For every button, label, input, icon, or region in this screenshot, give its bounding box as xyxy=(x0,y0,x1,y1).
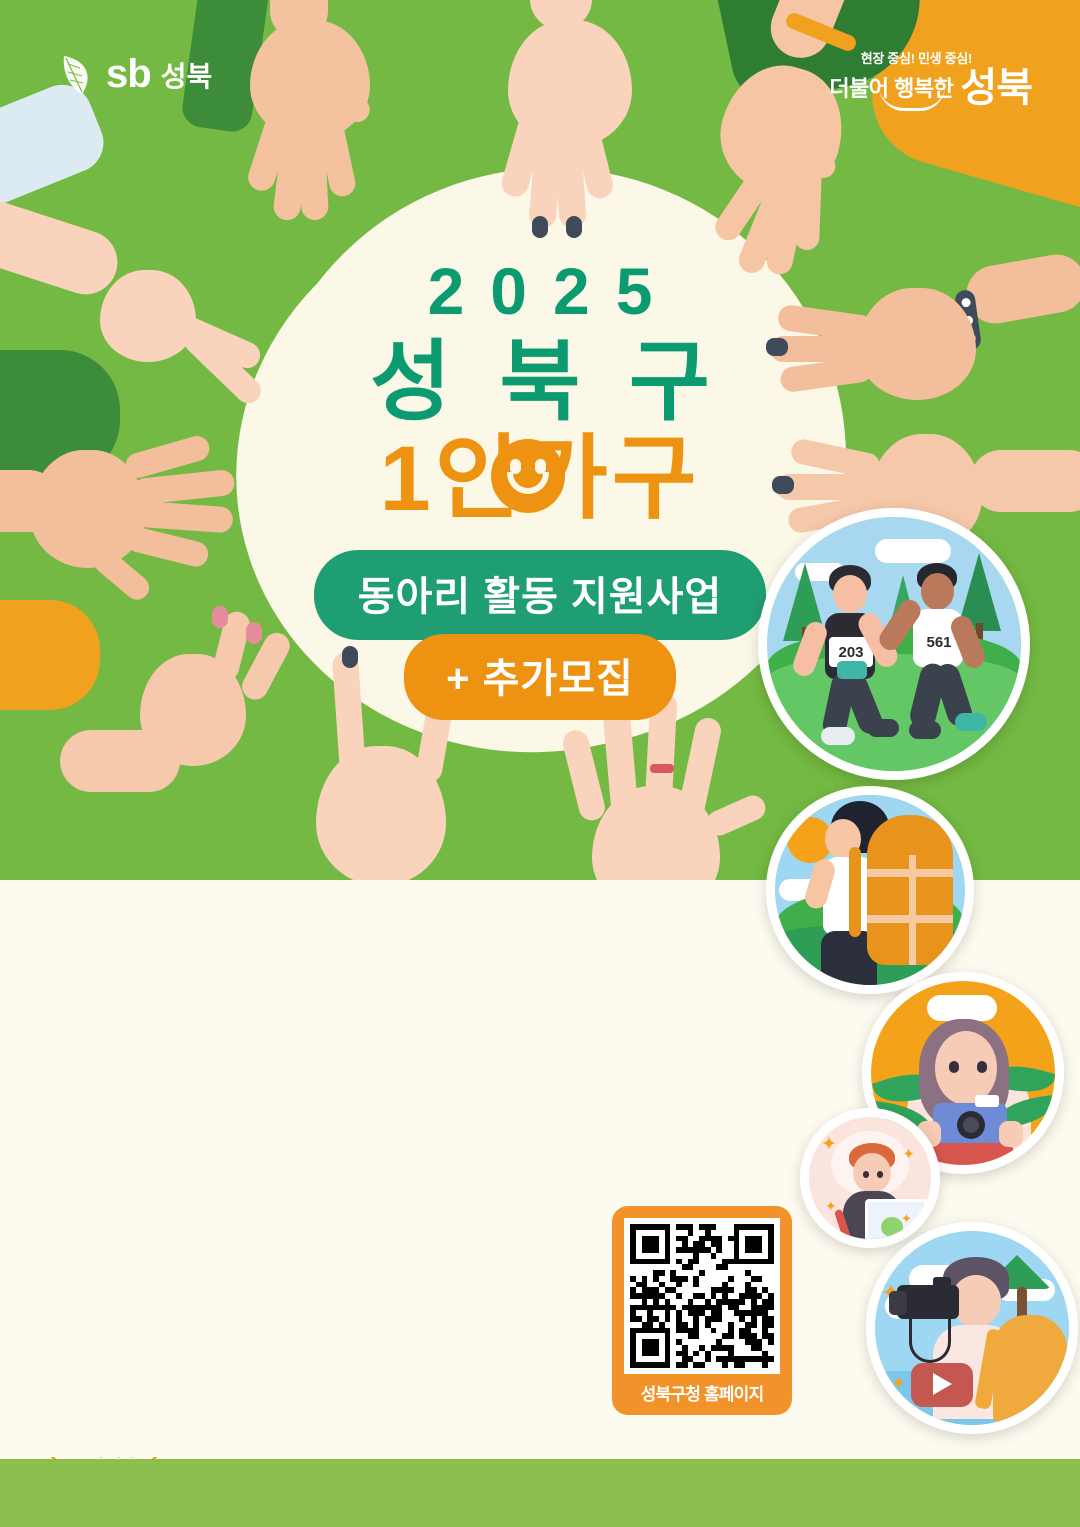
illustration-painter: ✦ ✦ ✦ ✦ xyxy=(800,1108,940,1248)
illustration-hiker xyxy=(766,786,974,994)
qr-caption: 성북구청 홈페이지 xyxy=(624,1374,780,1407)
qr-code-block[interactable]: 성북구청 홈페이지 xyxy=(612,1206,792,1415)
slogan-main-text: 더불어 행복한 xyxy=(829,71,953,107)
poster-root: 2025 성 북 구 1인가구 동아리 활동 지원사업 + 추가모집 s xyxy=(0,0,1080,1527)
slogan-brand-text: 성북 xyxy=(960,69,1032,107)
logo-seongbuk-text: 성북 xyxy=(161,63,213,91)
smiley-face-icon xyxy=(491,439,565,513)
bottom-green-bar xyxy=(0,1459,1080,1527)
leaf-mark-icon xyxy=(60,52,100,96)
badge-program: 동아리 활동 지원사업 xyxy=(314,550,766,640)
title-main: 성 북 구 xyxy=(0,334,1080,429)
logo-seongbuk-sb: sb 성북 xyxy=(60,52,212,96)
badge-additional-recruit: + 추가모집 xyxy=(404,634,676,720)
title-year: 2025 xyxy=(0,258,1080,324)
illustration-runners: 203 561 xyxy=(758,508,1030,780)
slogan-top-text: 현장 중심! 민생 중심! xyxy=(829,48,972,67)
illustration-traveler-camera: ✦ ✦ ✦ xyxy=(866,1222,1078,1434)
logo-sb-text: sb xyxy=(106,54,151,94)
title-sub-wrap: 1인가구 xyxy=(379,431,700,528)
logo-slogan: 현장 중심! 민생 중심! 더불어 행복한 성북 xyxy=(829,48,1032,107)
qr-code-image[interactable] xyxy=(624,1218,780,1374)
